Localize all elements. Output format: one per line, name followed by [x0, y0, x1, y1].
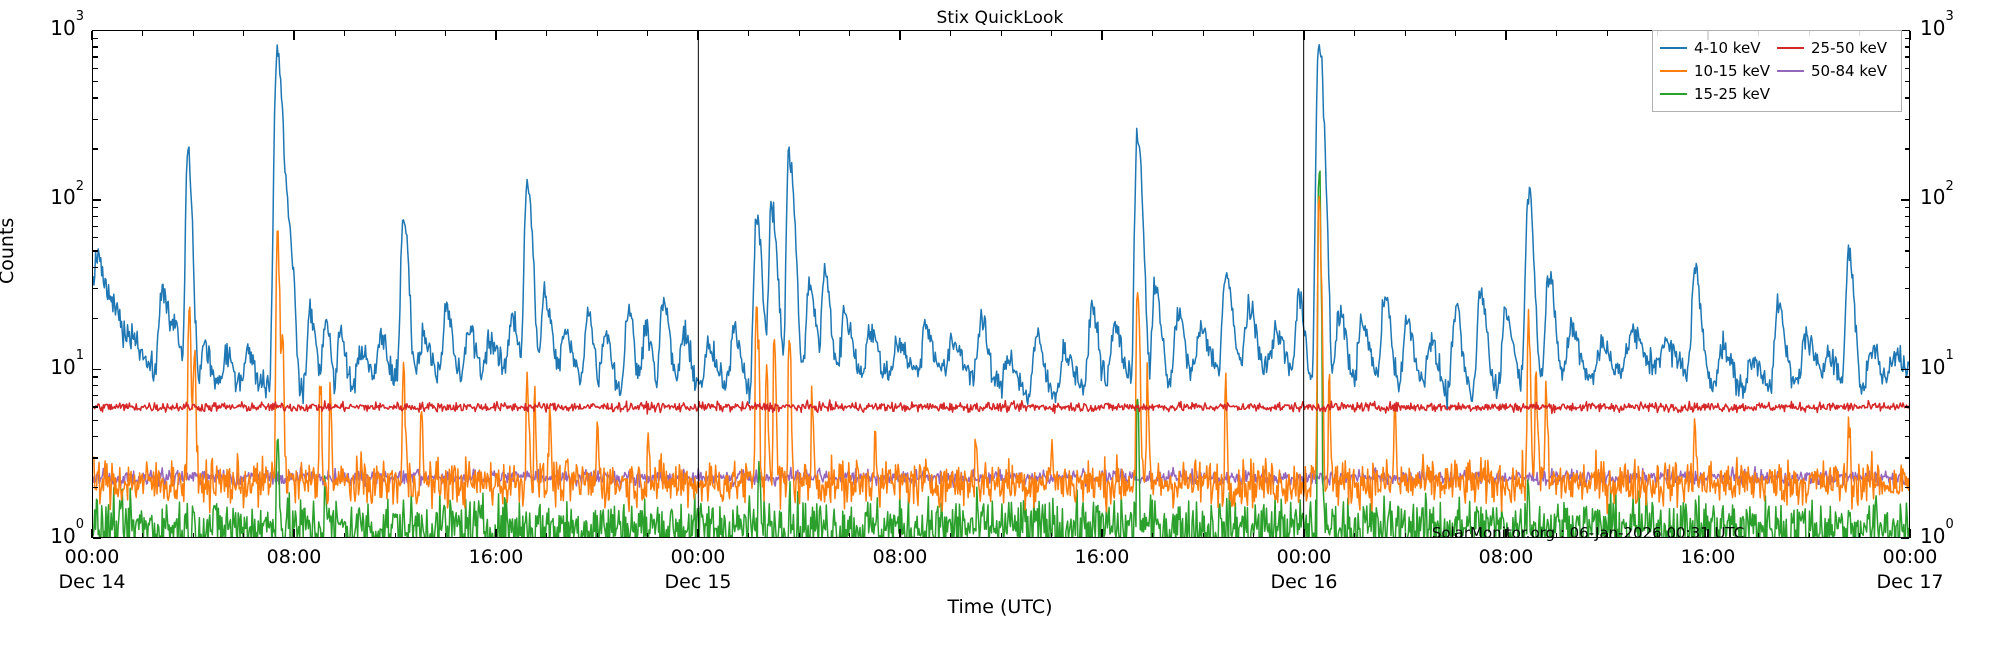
x-major-tick: [91, 529, 92, 538]
x-minor-tick: [1809, 533, 1810, 538]
legend-color-swatch: [1660, 93, 1687, 95]
x-minor-tick-top: [1051, 31, 1052, 36]
legend-item[interactable]: 15-25 keV: [1660, 82, 1777, 105]
series-line-25-50-kev: [93, 400, 1909, 414]
x-minor-tick-top: [546, 31, 547, 36]
y-minor-tick: [93, 148, 98, 149]
x-minor-tick: [193, 533, 194, 538]
y-tick-label: 100: [14, 524, 84, 548]
x-minor-tick: [243, 533, 244, 538]
credit-text: SolarMonitor.org : 06-Jan-2026 00:31 UTC: [1432, 524, 1744, 542]
y-major-tick: [93, 30, 101, 31]
x-major-tick-top: [1101, 31, 1102, 40]
x-major-tick: [495, 529, 496, 538]
y-minor-tick: [93, 68, 98, 69]
x-day-label: Dec 14: [59, 571, 126, 593]
y-tick-label-right: 103: [1920, 16, 1954, 40]
x-major-tick: [899, 529, 900, 538]
plot-area: [92, 30, 1910, 538]
x-minor-tick-top: [142, 31, 143, 36]
x-major-tick-top: [1303, 31, 1304, 40]
x-minor-tick-top: [1203, 31, 1204, 36]
legend-color-swatch: [1660, 47, 1687, 49]
x-minor-tick: [799, 533, 800, 538]
y-major-tick: [93, 199, 101, 200]
y-minor-tick-right: [1905, 56, 1910, 57]
y-minor-tick: [93, 288, 98, 289]
legend-color-swatch: [1660, 70, 1687, 72]
y-minor-tick: [93, 395, 98, 396]
x-minor-tick: [1758, 533, 1759, 538]
x-axis-title: Time (UTC): [0, 596, 2000, 618]
legend-item[interactable]: 10-15 keV: [1660, 59, 1777, 82]
y-tick-label-right: 100: [1920, 524, 1954, 548]
x-day-label: Dec 17: [1877, 571, 1944, 593]
y-minor-tick: [93, 226, 98, 227]
y-minor-tick: [93, 436, 98, 437]
x-major-tick-top: [697, 31, 698, 40]
legend-label: 15-25 keV: [1694, 85, 1770, 103]
y-minor-tick: [93, 487, 98, 488]
x-minor-tick: [849, 533, 850, 538]
x-major-tick: [293, 529, 294, 538]
x-tick-label: 16:00: [1075, 546, 1130, 568]
y-minor-tick: [93, 56, 98, 57]
legend-item[interactable]: 4-10 keV: [1660, 36, 1777, 59]
x-minor-tick: [1203, 533, 1204, 538]
x-major-tick: [1101, 529, 1102, 538]
x-minor-tick: [445, 533, 446, 538]
x-day-label: Dec 16: [1271, 571, 1338, 593]
y-minor-tick-right: [1905, 288, 1910, 289]
x-minor-tick-top: [1556, 31, 1557, 36]
y-minor-tick: [93, 97, 98, 98]
y-minor-tick-right: [1905, 148, 1910, 149]
legend-label: 50-84 keV: [1811, 62, 1887, 80]
y-minor-tick-right: [1905, 97, 1910, 98]
y-minor-tick-right: [1905, 68, 1910, 69]
x-minor-tick: [1859, 533, 1860, 538]
x-minor-tick: [1405, 533, 1406, 538]
x-minor-tick: [1253, 533, 1254, 538]
x-tick-label: 16:00: [1681, 546, 1736, 568]
legend-grid: 4-10 keV25-50 keV10-15 keV50-84 keV15-25…: [1660, 36, 1894, 105]
stix-quicklook-figure: Stix QuickLook Counts 100101102103 10010…: [0, 0, 2000, 650]
x-minor-tick: [1051, 533, 1052, 538]
y-minor-tick-right: [1905, 38, 1910, 39]
x-minor-tick: [546, 533, 547, 538]
y-minor-tick: [93, 420, 98, 421]
x-minor-tick-top: [1455, 31, 1456, 36]
legend-item[interactable]: 50-84 keV: [1777, 59, 1894, 82]
y-minor-tick: [93, 46, 98, 47]
y-minor-tick: [93, 119, 98, 120]
x-minor-tick-top: [243, 31, 244, 36]
y-minor-tick-right: [1905, 406, 1910, 407]
x-tick-label: 16:00: [469, 546, 524, 568]
x-tick-label: 00:00: [1277, 546, 1332, 568]
x-minor-tick-top: [849, 31, 850, 36]
x-minor-tick-top: [1152, 31, 1153, 36]
x-tick-label: 00:00: [1883, 546, 1938, 568]
x-minor-tick: [748, 533, 749, 538]
y-minor-tick: [93, 376, 98, 377]
x-minor-tick-top: [193, 31, 194, 36]
x-major-tick-top: [1909, 31, 1910, 40]
y-minor-tick-right: [1905, 436, 1910, 437]
y-minor-tick-right: [1905, 46, 1910, 47]
y-minor-tick-right: [1905, 395, 1910, 396]
y-major-tick-right: [1901, 369, 1909, 370]
x-minor-tick-top: [597, 31, 598, 36]
x-minor-tick: [1354, 533, 1355, 538]
x-minor-tick: [344, 533, 345, 538]
y-minor-tick-right: [1905, 226, 1910, 227]
y-minor-tick: [93, 318, 98, 319]
x-minor-tick: [1001, 533, 1002, 538]
y-minor-tick: [93, 250, 98, 251]
x-major-tick: [697, 529, 698, 538]
x-minor-tick-top: [799, 31, 800, 36]
y-major-tick: [93, 369, 101, 370]
y-minor-tick-right: [1905, 376, 1910, 377]
legend-color-swatch: [1777, 47, 1804, 49]
x-major-tick-top: [293, 31, 294, 40]
y-minor-tick-right: [1905, 318, 1910, 319]
x-minor-tick: [142, 533, 143, 538]
y-minor-tick-right: [1905, 81, 1910, 82]
y-minor-tick: [93, 38, 98, 39]
y-minor-tick: [93, 457, 98, 458]
y-minor-tick: [93, 385, 98, 386]
x-minor-tick-top: [445, 31, 446, 36]
y-minor-tick-right: [1905, 250, 1910, 251]
x-tick-label: 08:00: [1479, 546, 1534, 568]
x-major-tick-top: [899, 31, 900, 40]
x-minor-tick: [597, 533, 598, 538]
x-minor-tick-top: [647, 31, 648, 36]
lightcurve-svg: [93, 31, 1909, 537]
x-minor-tick-top: [950, 31, 951, 36]
y-tick-label: 103: [14, 16, 84, 40]
y-major-tick-right: [1901, 538, 1909, 539]
credit-label: SolarMonitor.org : 06-Jan-2026 00:31 UTC: [1432, 524, 1744, 542]
y-tick-label: 101: [14, 355, 84, 379]
legend-label: 25-50 keV: [1811, 39, 1887, 57]
legend: 4-10 keV25-50 keV10-15 keV50-84 keV15-25…: [1652, 30, 1902, 112]
x-minor-tick-top: [1253, 31, 1254, 36]
x-minor-tick: [395, 533, 396, 538]
y-minor-tick-right: [1905, 385, 1910, 386]
x-tick-label: 08:00: [873, 546, 928, 568]
y-tick-label-right: 102: [1920, 185, 1954, 209]
y-major-tick: [93, 538, 101, 539]
x-minor-tick: [647, 533, 648, 538]
y-minor-tick-right: [1905, 267, 1910, 268]
legend-item[interactable]: 25-50 keV: [1777, 36, 1894, 59]
y-minor-tick: [93, 216, 98, 217]
y-minor-tick-right: [1905, 207, 1910, 208]
x-minor-tick-top: [1354, 31, 1355, 36]
y-minor-tick-right: [1905, 216, 1910, 217]
y-axis-title: Counts: [0, 218, 18, 284]
y-major-tick-right: [1901, 30, 1909, 31]
legend-label: 4-10 keV: [1694, 39, 1760, 57]
x-tick-label: 08:00: [267, 546, 322, 568]
x-minor-tick-top: [1001, 31, 1002, 36]
y-tick-label: 102: [14, 185, 84, 209]
x-minor-tick-top: [395, 31, 396, 36]
x-major-tick-top: [1505, 31, 1506, 40]
x-minor-tick-top: [1607, 31, 1608, 36]
y-minor-tick: [93, 207, 98, 208]
x-major-tick: [1909, 529, 1910, 538]
y-minor-tick-right: [1905, 119, 1910, 120]
y-minor-tick-right: [1905, 457, 1910, 458]
x-major-tick: [1303, 529, 1304, 538]
x-minor-tick-top: [1405, 31, 1406, 36]
x-major-tick-top: [91, 31, 92, 40]
x-tick-label: 00:00: [671, 546, 726, 568]
y-minor-tick: [93, 237, 98, 238]
legend-label: 10-15 keV: [1694, 62, 1770, 80]
y-minor-tick-right: [1905, 420, 1910, 421]
y-minor-tick-right: [1905, 237, 1910, 238]
x-major-tick-top: [495, 31, 496, 40]
x-minor-tick: [1152, 533, 1153, 538]
x-minor-tick: [950, 533, 951, 538]
y-minor-tick: [93, 406, 98, 407]
x-minor-tick-top: [748, 31, 749, 36]
x-tick-label: 00:00: [65, 546, 120, 568]
legend-color-swatch: [1777, 70, 1804, 72]
y-minor-tick: [93, 81, 98, 82]
x-day-label: Dec 15: [665, 571, 732, 593]
chart-title: Stix QuickLook: [0, 8, 2000, 28]
y-minor-tick-right: [1905, 487, 1910, 488]
y-minor-tick: [93, 267, 98, 268]
x-minor-tick-top: [344, 31, 345, 36]
y-tick-label-right: 101: [1920, 355, 1954, 379]
y-major-tick-right: [1901, 199, 1909, 200]
series-line-4-10-kev: [93, 45, 1909, 409]
